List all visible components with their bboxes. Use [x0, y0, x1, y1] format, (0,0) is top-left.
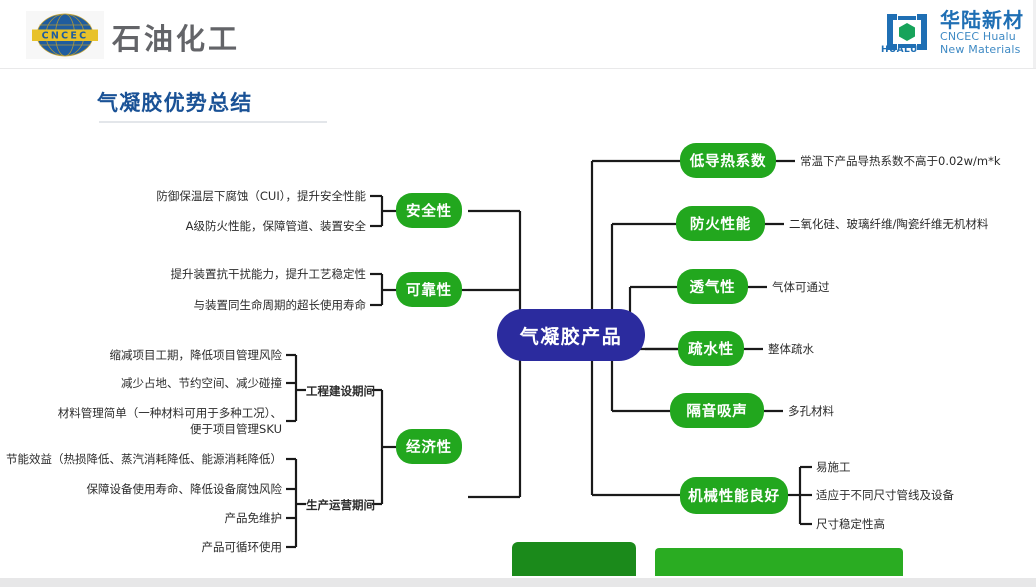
slide-canvas: CNCEC 石油化工 HUALU 华陆新材 CNCEC Hualu New Ma…	[0, 0, 1036, 587]
leaf-operation-3: 产品免维护	[0, 510, 282, 526]
leaf-construction-3: 材料管理简单（一种材料可用于多种工况）、	[0, 405, 282, 421]
leaf-construction-2: 减少占地、节约空间、减少碰撞	[0, 375, 282, 391]
bottom-decoration-block	[512, 542, 636, 576]
branch-node-hydrophobic[interactable]: 疏水性	[678, 331, 744, 366]
leaf-safety-2: A级防火性能，保障管道、装置安全	[70, 218, 366, 234]
leaf-breathable-1: 气体可通过	[772, 279, 830, 295]
leaf-construction-3b: 便于项目管理SKU	[0, 421, 282, 437]
branch-node-economy[interactable]: 经济性	[396, 429, 462, 464]
group-label-construction: 工程建设期间	[306, 383, 375, 399]
leaf-reliability-1: 提升装置抗干扰能力，提升工艺稳定性	[70, 266, 366, 282]
branch-node-soundproof[interactable]: 隔音吸声	[670, 393, 764, 428]
branch-node-low-conductivity[interactable]: 低导热系数	[680, 143, 776, 178]
branch-node-breathable[interactable]: 透气性	[677, 269, 748, 304]
leaf-mechanical-2: 适应于不同尺寸管线及设备	[816, 487, 954, 503]
leaf-operation-1: 节能效益（热损降低、蒸汽消耗降低、能源消耗降低）	[0, 451, 282, 467]
bottom-decoration-bar	[655, 548, 903, 576]
leaf-mechanical-3: 尺寸稳定性高	[816, 516, 885, 532]
branch-node-mechanical[interactable]: 机械性能良好	[680, 477, 788, 514]
branch-node-fireproof[interactable]: 防火性能	[676, 206, 765, 241]
leaf-construction-1: 缩减项目工期，降低项目管理风险	[0, 347, 282, 363]
leaf-operation-2: 保障设备使用寿命、降低设备腐蚀风险	[0, 481, 282, 497]
leaf-reliability-2: 与装置同生命周期的超长使用寿命	[70, 297, 366, 313]
mindmap: 气凝胶产品 安全性 可靠性 经济性 防御保温层下腐蚀（CUI），提升安全性能 A…	[0, 0, 1036, 587]
leaf-hydrophobic-1: 整体疏水	[768, 341, 814, 357]
leaf-fireproof-1: 二氧化硅、玻璃纤维/陶瓷纤维无机材料	[789, 216, 988, 232]
root-node[interactable]: 气凝胶产品	[497, 309, 645, 361]
branch-node-safety[interactable]: 安全性	[396, 193, 462, 228]
leaf-operation-4: 产品可循环使用	[0, 539, 282, 555]
group-label-operation: 生产运营期间	[306, 497, 375, 513]
leaf-safety-1: 防御保温层下腐蚀（CUI），提升安全性能	[70, 188, 366, 204]
branch-node-reliability[interactable]: 可靠性	[396, 272, 462, 307]
leaf-mechanical-1: 易施工	[816, 459, 851, 475]
bottom-edge-strip	[0, 578, 1036, 587]
leaf-soundproof-1: 多孔材料	[788, 403, 834, 419]
leaf-low-conductivity-1: 常温下产品导热系数不高于0.02w/m*k	[800, 153, 1001, 169]
